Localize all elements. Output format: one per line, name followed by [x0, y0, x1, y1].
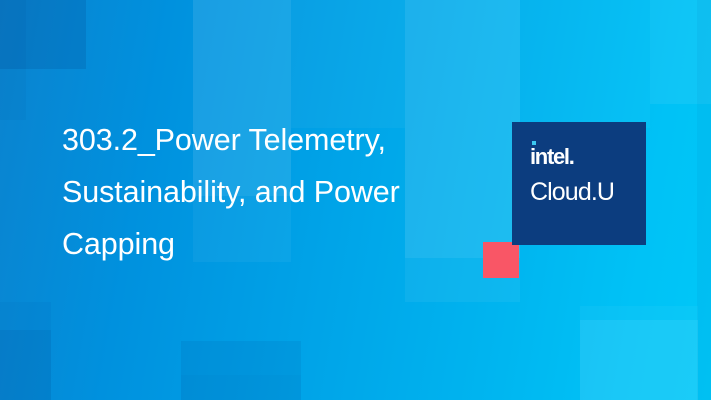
background-block-top-right: [650, 0, 711, 104]
cloud-u-wordmark: Cloud.U: [530, 179, 636, 206]
background-block-bottom-middle-lower: [181, 375, 301, 400]
background-block-top-middle: [291, 0, 405, 128]
background-block-top-left-edge: [0, 0, 26, 120]
intel-cloud-u-logo: intel. Cloud.U: [512, 122, 646, 245]
background-block-bottom-left-upper: [0, 302, 51, 330]
coral-accent-square: [483, 242, 519, 278]
background-block-bottom-right: [580, 320, 698, 400]
slide-title: 303.2_Power Telemetry, Sustainability, a…: [62, 114, 462, 270]
intel-wordmark-text: intel: [530, 144, 569, 169]
intel-wordmark: intel.: [530, 146, 636, 168]
background-block-bottom-left: [0, 330, 51, 400]
background-block-right-soft: [520, 0, 650, 128]
background-block-top-left: [0, 0, 86, 69]
intel-i-dot-icon: [532, 141, 537, 146]
logo-lockup: intel. Cloud.U: [530, 146, 636, 206]
title-slide: 303.2_Power Telemetry, Sustainability, a…: [0, 0, 711, 400]
intel-wordmark-period: .: [569, 144, 574, 169]
background-block-bottom-middle: [181, 341, 301, 400]
background-block-right-edge: [697, 0, 711, 400]
background-block-bottom-right-upper: [580, 306, 698, 320]
